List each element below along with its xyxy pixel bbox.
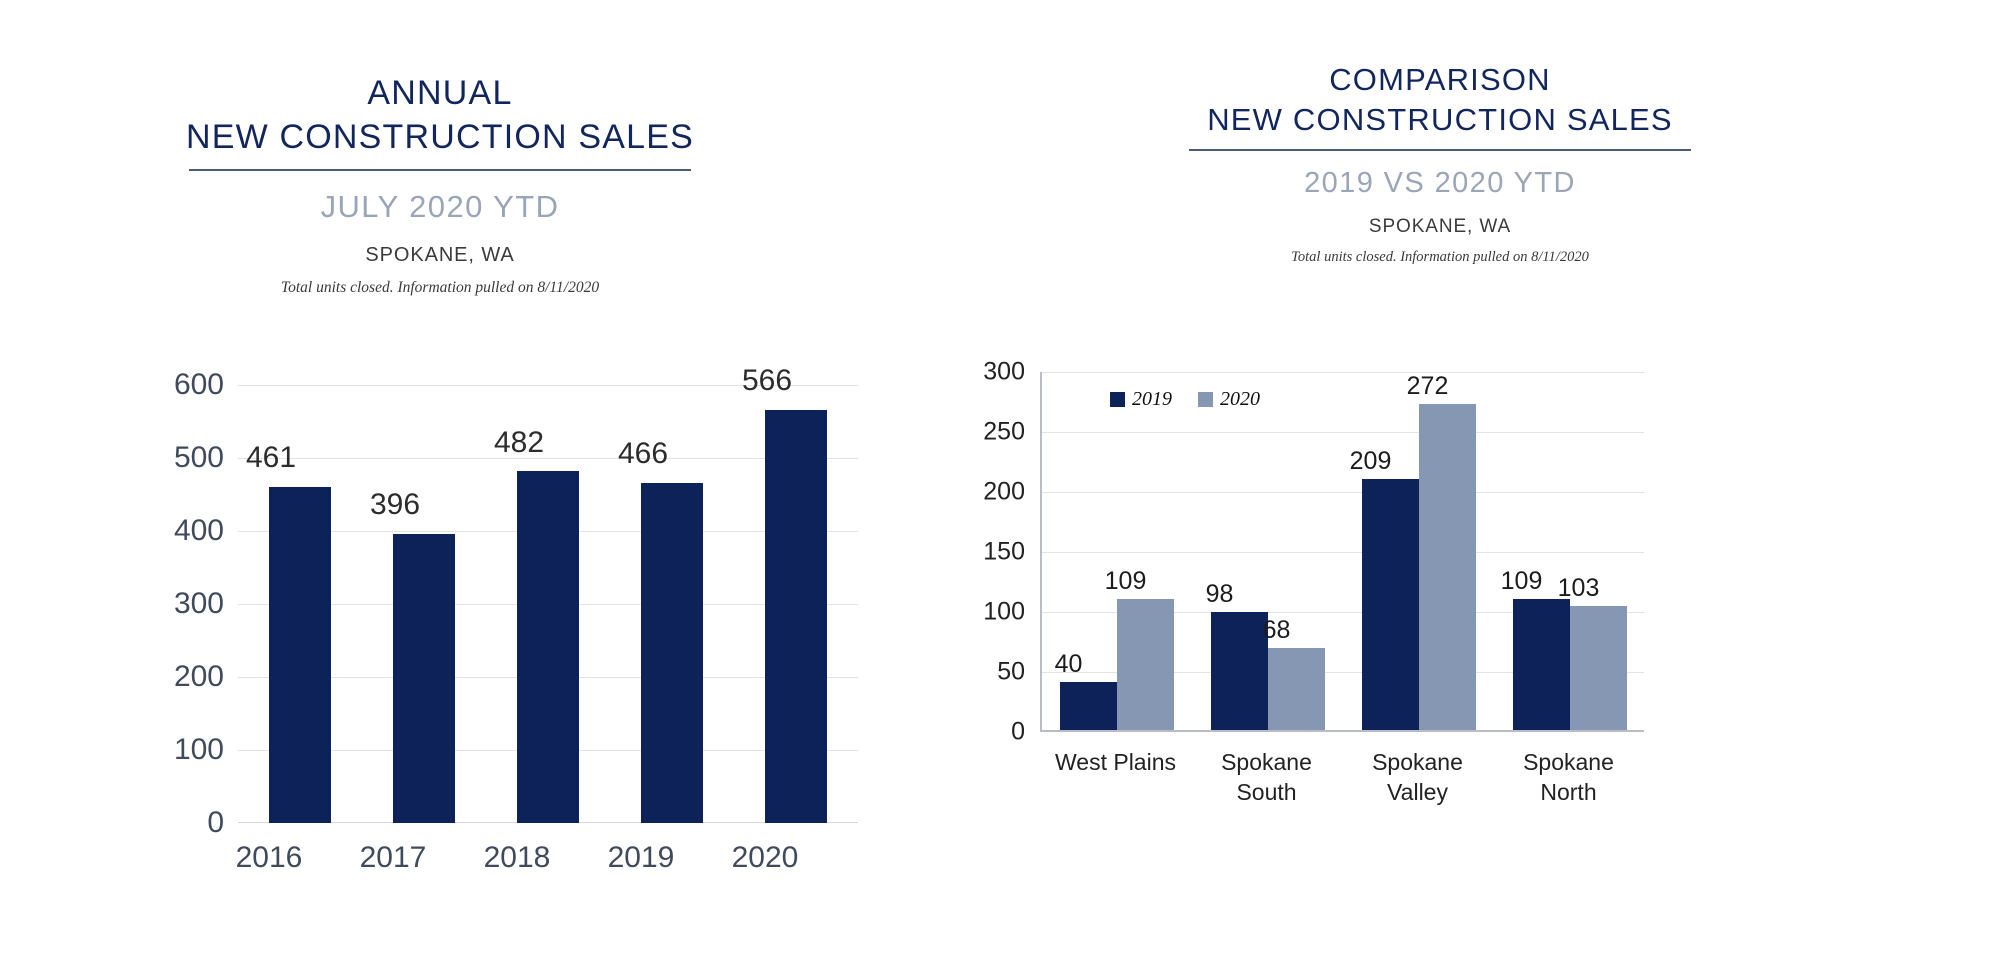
comparison-ytick-250: 250 bbox=[950, 418, 1025, 447]
annual-bar-2016[interactable] bbox=[269, 487, 331, 824]
annual-ytick-200: 200 bbox=[144, 660, 224, 694]
panel-comparison-sales: COMPARISON NEW CONSTRUCTION SALES 2019 V… bbox=[880, 0, 2000, 964]
legend-item-2020[interactable]: 2020 bbox=[1198, 388, 1260, 411]
annual-xlabel-2018: 2018 bbox=[455, 838, 579, 877]
annual-value-label-2017: 396 bbox=[333, 488, 457, 522]
comparison-value-2019-west-plains: 40 bbox=[1028, 650, 1109, 679]
comparison-xlabel-spokane-north: Spokane North bbox=[1493, 748, 1644, 808]
comparison-bar-2020-west-plains[interactable] bbox=[1117, 599, 1174, 730]
comparison-xlabel-spokane-south-line-1: Spokane bbox=[1221, 749, 1312, 775]
comparison-bar-2020-spokane-north[interactable] bbox=[1570, 606, 1627, 730]
annual-ytick-300: 300 bbox=[144, 587, 224, 621]
legend-label-2019: 2019 bbox=[1132, 388, 1172, 411]
comparison-ytick-300: 300 bbox=[950, 358, 1025, 387]
comparison-value-2020-spokane-south: 68 bbox=[1236, 616, 1317, 645]
annual-xlabel-2017: 2017 bbox=[331, 838, 455, 877]
annual-ytick-0: 0 bbox=[144, 806, 224, 840]
comparison-legend: 2019 2020 bbox=[1110, 388, 1260, 411]
annual-ytick-600: 600 bbox=[144, 368, 224, 402]
annual-bar-2018[interactable] bbox=[517, 471, 579, 823]
comparison-value-2020-west-plains: 109 bbox=[1085, 567, 1166, 596]
panel-annual-sales: ANNUAL NEW CONSTRUCTION SALES JULY 2020 … bbox=[0, 0, 880, 964]
comparison-bar-2020-spokane-south[interactable] bbox=[1268, 648, 1325, 730]
comparison-bar-2020-spokane-valley[interactable] bbox=[1419, 404, 1476, 730]
annual-value-label-2016: 461 bbox=[209, 441, 333, 475]
comparison-sales-bar-chart: 300 250 200 150 100 50 0 2019 bbox=[880, 0, 2000, 964]
annual-bar-2017[interactable] bbox=[393, 534, 455, 823]
comparison-xlabel-west-plains-line-1: West Plains bbox=[1055, 749, 1176, 775]
comparison-value-2019-spokane-valley: 209 bbox=[1330, 447, 1411, 476]
comparison-ytick-50: 50 bbox=[950, 658, 1025, 687]
comparison-gridline-250 bbox=[1042, 432, 1644, 433]
comparison-value-2020-spokane-valley: 272 bbox=[1387, 372, 1468, 401]
annual-xlabel-2016: 2016 bbox=[207, 838, 331, 877]
annual-bar-2020[interactable] bbox=[765, 410, 827, 823]
comparison-xlabel-spokane-north-line-1: Spokane bbox=[1523, 749, 1614, 775]
comparison-ytick-150: 150 bbox=[950, 538, 1025, 567]
legend-swatch-2019-icon bbox=[1110, 392, 1125, 407]
annual-ytick-100: 100 bbox=[144, 733, 224, 767]
comparison-gridline-200 bbox=[1042, 492, 1644, 493]
comparison-bar-2019-west-plains[interactable] bbox=[1060, 682, 1117, 730]
comparison-xlabel-spokane-valley-line-1: Spokane bbox=[1372, 749, 1463, 775]
comparison-gridline-300 bbox=[1042, 372, 1644, 373]
comparison-xlabel-spokane-south: Spokane South bbox=[1191, 748, 1342, 808]
comparison-bar-2019-spokane-north[interactable] bbox=[1513, 599, 1570, 730]
comparison-xlabel-west-plains: West Plains bbox=[1040, 748, 1191, 778]
annual-value-label-2020: 566 bbox=[705, 364, 829, 398]
comparison-value-2020-spokane-north: 103 bbox=[1538, 574, 1619, 603]
annual-bar-2019[interactable] bbox=[641, 483, 703, 823]
comparison-ytick-0: 0 bbox=[950, 718, 1025, 747]
comparison-xlabel-spokane-south-line-2: South bbox=[1236, 779, 1296, 805]
legend-item-2019[interactable]: 2019 bbox=[1110, 388, 1172, 411]
comparison-xlabel-spokane-valley: Spokane Valley bbox=[1342, 748, 1493, 808]
comparison-plot-area: 2019 2020 bbox=[1040, 372, 1644, 732]
annual-value-label-2018: 482 bbox=[457, 426, 581, 460]
comparison-xlabel-spokane-north-line-2: North bbox=[1540, 779, 1596, 805]
dashboard-page: ANNUAL NEW CONSTRUCTION SALES JULY 2020 … bbox=[0, 0, 2000, 964]
annual-xlabel-2020: 2020 bbox=[703, 838, 827, 877]
legend-swatch-2020-icon bbox=[1198, 392, 1213, 407]
annual-value-label-2019: 466 bbox=[581, 437, 705, 471]
legend-label-2020: 2020 bbox=[1220, 388, 1260, 411]
annual-ytick-400: 400 bbox=[144, 514, 224, 548]
comparison-ytick-100: 100 bbox=[950, 598, 1025, 627]
annual-xlabel-2019: 2019 bbox=[579, 838, 703, 877]
annual-sales-bar-chart: 600 500 400 300 200 100 0 bbox=[0, 0, 880, 964]
comparison-bar-2019-spokane-valley[interactable] bbox=[1362, 479, 1419, 730]
comparison-xlabel-spokane-valley-line-2: Valley bbox=[1387, 779, 1448, 805]
comparison-ytick-200: 200 bbox=[950, 478, 1025, 507]
comparison-gridline-150 bbox=[1042, 552, 1644, 553]
comparison-value-2019-spokane-south: 98 bbox=[1179, 580, 1260, 609]
